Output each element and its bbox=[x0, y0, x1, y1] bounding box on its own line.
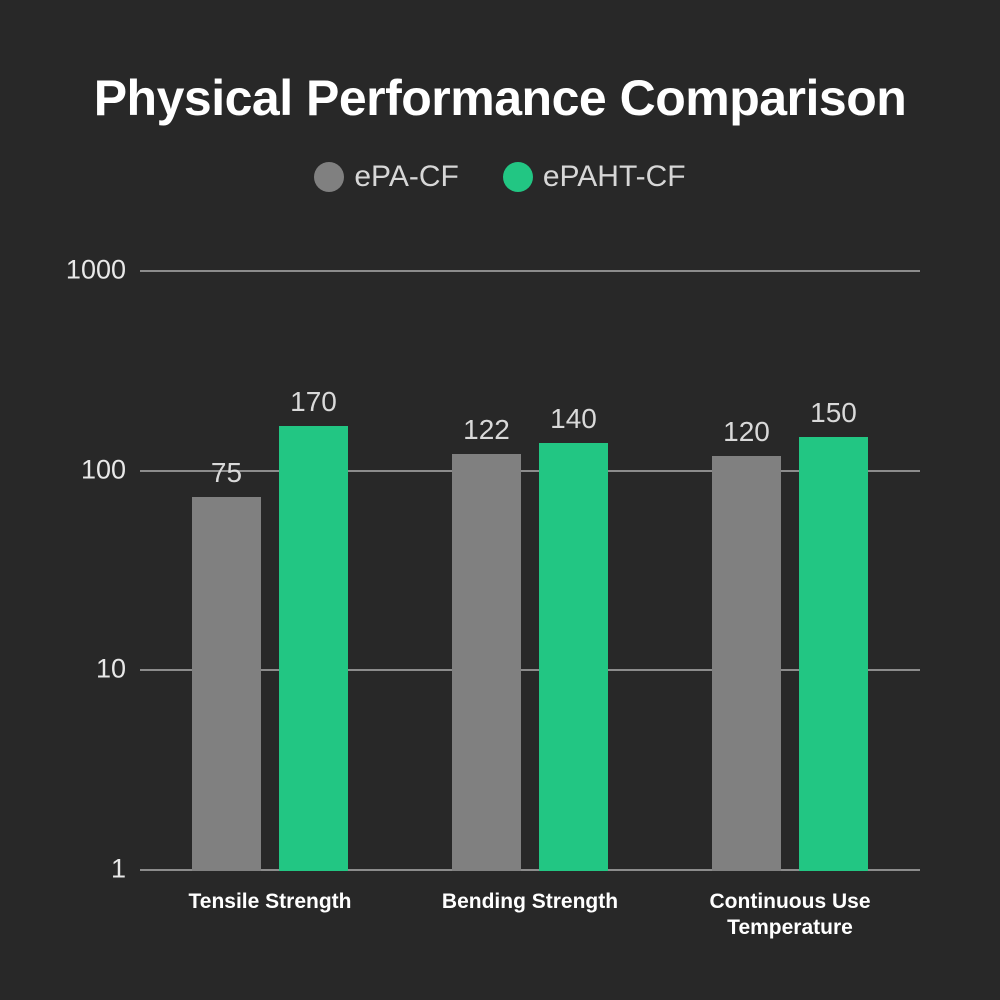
bar-value-label: 120 bbox=[723, 416, 770, 448]
bar-rect bbox=[539, 443, 608, 872]
x-axis-category-1: Tensile Strength bbox=[155, 889, 385, 915]
bar-value-label: 150 bbox=[810, 397, 857, 429]
y-axis-tick-1: 1 bbox=[111, 854, 126, 885]
bar-epa-cf-3[interactable]: 120 bbox=[712, 272, 781, 871]
plot-area: 1101001000 75170Tensile Strength122140Be… bbox=[140, 272, 920, 871]
legend-swatch-green-icon bbox=[503, 162, 533, 192]
legend-swatch-gray-icon bbox=[314, 162, 344, 192]
y-axis-tick-1000: 1000 bbox=[66, 255, 126, 286]
bar-epaht-cf-1[interactable]: 170 bbox=[279, 272, 348, 871]
legend-item-epaht-cf[interactable]: ePAHT-CF bbox=[503, 160, 686, 194]
bar-group-1: 75170Tensile Strength bbox=[140, 272, 400, 871]
legend-label-epaht-cf: ePAHT-CF bbox=[543, 160, 686, 194]
legend-label-epa-cf: ePA-CF bbox=[354, 160, 458, 194]
bar-value-label: 75 bbox=[211, 457, 242, 489]
bar-epaht-cf-2[interactable]: 140 bbox=[539, 272, 608, 871]
bar-rect bbox=[712, 456, 781, 871]
bar-epaht-cf-3[interactable]: 150 bbox=[799, 272, 868, 871]
bar-value-label: 140 bbox=[550, 403, 597, 435]
bar-rect bbox=[452, 454, 521, 871]
bar-value-label: 122 bbox=[463, 414, 510, 446]
y-axis-tick-10: 10 bbox=[96, 654, 126, 685]
bar-epa-cf-2[interactable]: 122 bbox=[452, 272, 521, 871]
chart-title: Physical Performance Comparison bbox=[0, 72, 1000, 125]
bar-group-2: 122140Bending Strength bbox=[400, 272, 660, 871]
x-axis-category-2: Bending Strength bbox=[415, 889, 645, 915]
chart-legend: ePA-CF ePAHT-CF bbox=[0, 160, 1000, 194]
bar-epa-cf-1[interactable]: 75 bbox=[192, 272, 261, 871]
bar-rect bbox=[799, 437, 868, 871]
bar-value-label: 170 bbox=[290, 386, 337, 418]
x-axis-category-3: Continuous Use Temperature bbox=[675, 889, 905, 942]
bar-group-3: 120150Continuous Use Temperature bbox=[660, 272, 920, 871]
legend-item-epa-cf[interactable]: ePA-CF bbox=[314, 160, 458, 194]
bar-rect bbox=[192, 497, 261, 871]
y-axis-tick-100: 100 bbox=[81, 454, 126, 485]
chart-canvas: Physical Performance Comparison ePA-CF e… bbox=[0, 0, 1000, 1000]
bar-rect bbox=[279, 426, 348, 871]
